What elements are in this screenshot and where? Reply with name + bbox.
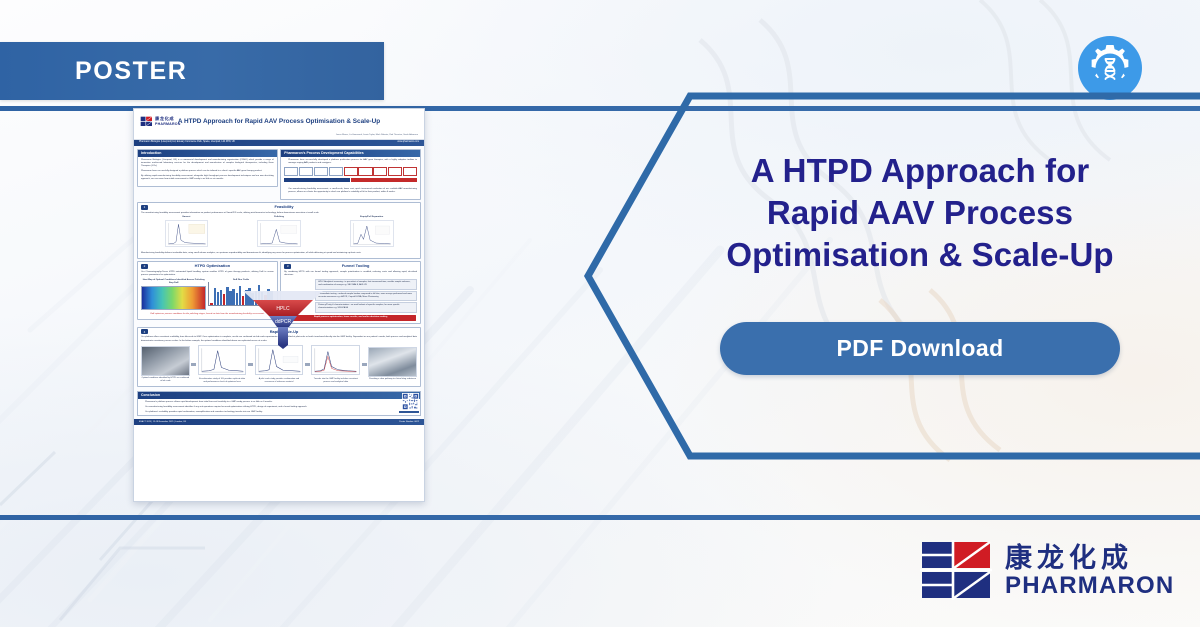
poster-thumb-body: Introduction Pharmaron Biologics (Liverp…	[134, 146, 424, 419]
feasibility-figure-label-3: Empty/Full Separation	[326, 216, 417, 219]
feasibility-step-icon: 1	[141, 205, 148, 210]
pharmaron-square-mark-small	[140, 116, 153, 127]
scaleup-step-caption-1: Optimal conditions identified by HTPD ar…	[141, 376, 190, 383]
process-step-cell	[299, 167, 313, 176]
brand-chinese-name: 康龙化成	[1005, 544, 1174, 572]
htpd-step-icon: 2	[141, 264, 148, 269]
process-step-cell	[358, 167, 372, 176]
process-step-cell	[284, 167, 298, 176]
chromatogram-chart-3	[350, 220, 394, 247]
scaleup-arrow	[362, 363, 367, 366]
introduction-paragraph-3: By utilising rapid manufacturing feasibi…	[141, 175, 274, 181]
capabilities-bullets-top: Pharmaron have successfully developed a …	[281, 157, 420, 165]
scaleup-step-2: A confirmation study of 10L provides rep…	[198, 345, 247, 384]
poster-section-capabilities: Pharmaron's Process Development Capabili…	[280, 149, 421, 200]
htpd-heading: HTPD Optimisation	[151, 263, 274, 269]
htpd-figure-label-1: Heat Map of Optimal Conditions Identifie…	[141, 279, 206, 285]
bottom-divider-rule	[0, 515, 1200, 520]
capabilities-heading: Pharmaron's Process Development Capabili…	[281, 150, 420, 157]
feasibility-note: Manufacturing feasibility delivers inval…	[138, 251, 420, 256]
process-step-cell	[373, 167, 387, 176]
poster-thumb-contact: www.pharmaron.com	[397, 141, 419, 144]
funnel-item-1: HPLC Analytical screening - to pre-selec…	[315, 279, 417, 290]
feasibility-figure-row: Harvest Polishing	[138, 215, 420, 251]
hero-panel: A HTPD Approach for Rapid AAV Process Op…	[660, 150, 1180, 375]
process-step-cell	[329, 167, 343, 176]
funnel-intro: By combining HTPD with our funnel toolin…	[281, 269, 420, 277]
poster-thumb-authors: Jenna Moore, Liz Hammond, Jamie Taylor, …	[336, 134, 418, 137]
poster-section-conclusion: Conclusion Pharmaron's platform process …	[137, 391, 421, 417]
scaleup-photo-lab-scientist	[141, 346, 190, 376]
poster-thumb-header: 康龙化成 PHARMARON A HTPD Approach for Rapid…	[134, 109, 424, 140]
feasibility-figure-polishing: Polishing	[234, 216, 325, 249]
introduction-paragraph-2: Pharmaron have successfully designed a p…	[141, 170, 274, 173]
htpd-figure-heatmap: Heat Map of Optimal Conditions Identifie…	[141, 279, 206, 310]
introduction-body: Pharmaron Biologics (Liverpool, UK) is a…	[138, 157, 277, 181]
capabilities-bullet-2: Our manufacturing feasibility assessment…	[288, 188, 417, 194]
process-step-cell	[314, 167, 328, 176]
funnel-tooling-graphic: HPLC ddPCR	[241, 283, 325, 349]
title-line-3: Optimisation & Scale-Up	[726, 236, 1113, 273]
title-line-2: Rapid AAV Process	[767, 194, 1073, 231]
pharmaron-square-mark	[920, 538, 994, 604]
process-phase-bar-upstream	[284, 178, 350, 182]
conclusion-bullets: Pharmaron's platform process allows rapi…	[138, 399, 420, 414]
pdf-download-button[interactable]: PDF Download	[720, 322, 1120, 375]
scaleup-arrow	[191, 363, 196, 366]
scaleup-step-5: Providing a clear pathway to clinical dr…	[368, 347, 417, 381]
page-title: A HTPD Approach for Rapid AAV Process Op…	[670, 150, 1170, 276]
htpd-intro: Our Chromatography-Tecan HTPD automated …	[138, 269, 277, 277]
qr-code-icon[interactable]	[402, 393, 419, 410]
feasibility-header-bar: 1 Feasibility	[138, 203, 420, 210]
process-step-cell	[388, 167, 402, 176]
scaleup-arrow	[248, 363, 253, 366]
scaleup-step-caption-5: Providing a clear pathway to clinical dr…	[368, 377, 417, 381]
poster-category-banner: POSTER	[0, 42, 384, 100]
introduction-heading: Introduction	[138, 150, 277, 157]
capabilities-bullet-1: Pharmaron have successfully developed a …	[288, 159, 417, 165]
process-phase-bar-downstream	[351, 178, 417, 182]
htpd-figure-label-2: DoE Run Yields	[208, 279, 273, 282]
scaleup-step-caption-3: A pilot scale study provides confirmatio…	[255, 377, 304, 384]
poster-section-feasibility: 1 Feasibility The manufacturing feasibil…	[137, 202, 421, 259]
heatmap-chart	[141, 286, 206, 310]
title-line-1: A HTPD Approach for	[751, 152, 1090, 189]
poster-thumb-row-top: Introduction Pharmaron Biologics (Liverp…	[137, 149, 421, 200]
poster-thumb-logo-en: PHARMARON	[155, 122, 181, 127]
qr-code-caption: Scan for more information	[399, 411, 419, 413]
brand-english-name: PHARMARON	[1005, 573, 1174, 598]
pharmaron-logo: 康龙化成 PHARMARON	[920, 534, 1178, 608]
poster-thumb-logo: 康龙化成 PHARMARON	[140, 116, 181, 127]
poster-section-introduction: Introduction Pharmaron Biologics (Liverp…	[137, 149, 278, 187]
feasibility-figure-label-2: Polishing	[234, 216, 325, 219]
conclusion-heading: Conclusion	[138, 392, 420, 399]
conclusion-bullet-3: Our platform's scalability provides rapi…	[145, 411, 417, 414]
poster-thumb-footer: ESACT 2025 | 15-18 November 2025 | Londo…	[134, 419, 424, 425]
scaleup-step-caption-2: A confirmation study of 10L provides rep…	[198, 377, 247, 384]
conclusion-bullet-1: Pharmaron's platform process allows rapi…	[145, 401, 417, 404]
feasibility-heading: Feasibility	[151, 204, 417, 210]
feasibility-figure-harvest: Harvest	[141, 216, 232, 249]
funnel-item-2: Intermediate testing - reduced sample bu…	[315, 291, 417, 302]
process-step-cell	[344, 167, 358, 176]
funnel-item-3: Potency/Purity & characterisation - on s…	[315, 302, 417, 313]
poster-category-label: POSTER	[0, 57, 187, 86]
scaleup-photo-gmp-suite	[368, 347, 417, 377]
chromatogram-chart-2	[257, 220, 301, 247]
funnel-heading: Funnel Tooling	[294, 263, 417, 269]
chromatogram-chart-1	[165, 220, 209, 247]
scaleup-step-caption-4: Transfer into the GMP facility includes …	[311, 377, 360, 384]
scaleup-arrow	[305, 363, 310, 366]
funnel-header-bar: 3 Funnel Tooling	[281, 262, 420, 269]
funnel-step-icon: 3	[284, 264, 291, 269]
scaleup-chart-10l	[198, 345, 247, 375]
htpd-header-bar: 2 HTPD Optimisation	[138, 262, 277, 269]
scaleup-step-4: Transfer into the GMP facility includes …	[311, 345, 360, 384]
scaleup-step-icon: 4	[141, 329, 148, 334]
conclusion-bullet-2: Our manufacturing feasibility assessment…	[145, 406, 417, 409]
scaleup-step-1: Optimal conditions identified by HTPD ar…	[141, 346, 190, 383]
svg-text:ddPCR: ddPCR	[275, 319, 292, 325]
poster-thumb-footer-right: Poster Number: 0022	[399, 421, 419, 424]
poster-thumbnail-preview[interactable]: 康龙化成 PHARMARON A HTPD Approach for Rapid…	[133, 108, 425, 502]
scaleup-step-3: A pilot scale study provides confirmatio…	[255, 345, 304, 384]
svg-text:HPLC: HPLC	[276, 306, 290, 312]
brand-wordmark: 康龙化成 PHARMARON	[1005, 544, 1174, 598]
feasibility-figure-emptyfull: Empty/Full Separation	[326, 216, 417, 249]
process-step-cell	[403, 167, 417, 176]
feasibility-figure-label-1: Harvest	[141, 216, 232, 219]
process-flow-diagram	[284, 167, 417, 184]
poster-thumb-affiliation: Pharmaron Biologics (Liverpool) Ltd, Est…	[139, 141, 235, 144]
introduction-paragraph-1: Pharmaron Biologics (Liverpool, UK) is a…	[141, 159, 274, 168]
capabilities-bullets-bottom: Our manufacturing feasibility assessment…	[281, 186, 420, 194]
poster-thumb-row-middle: HPLC ddPCR 2 HTPD Optimisation Our Chrom…	[137, 261, 421, 324]
poster-thumb-footer-left: ESACT 2025 | 15-18 November 2025 | Londo…	[139, 421, 186, 424]
